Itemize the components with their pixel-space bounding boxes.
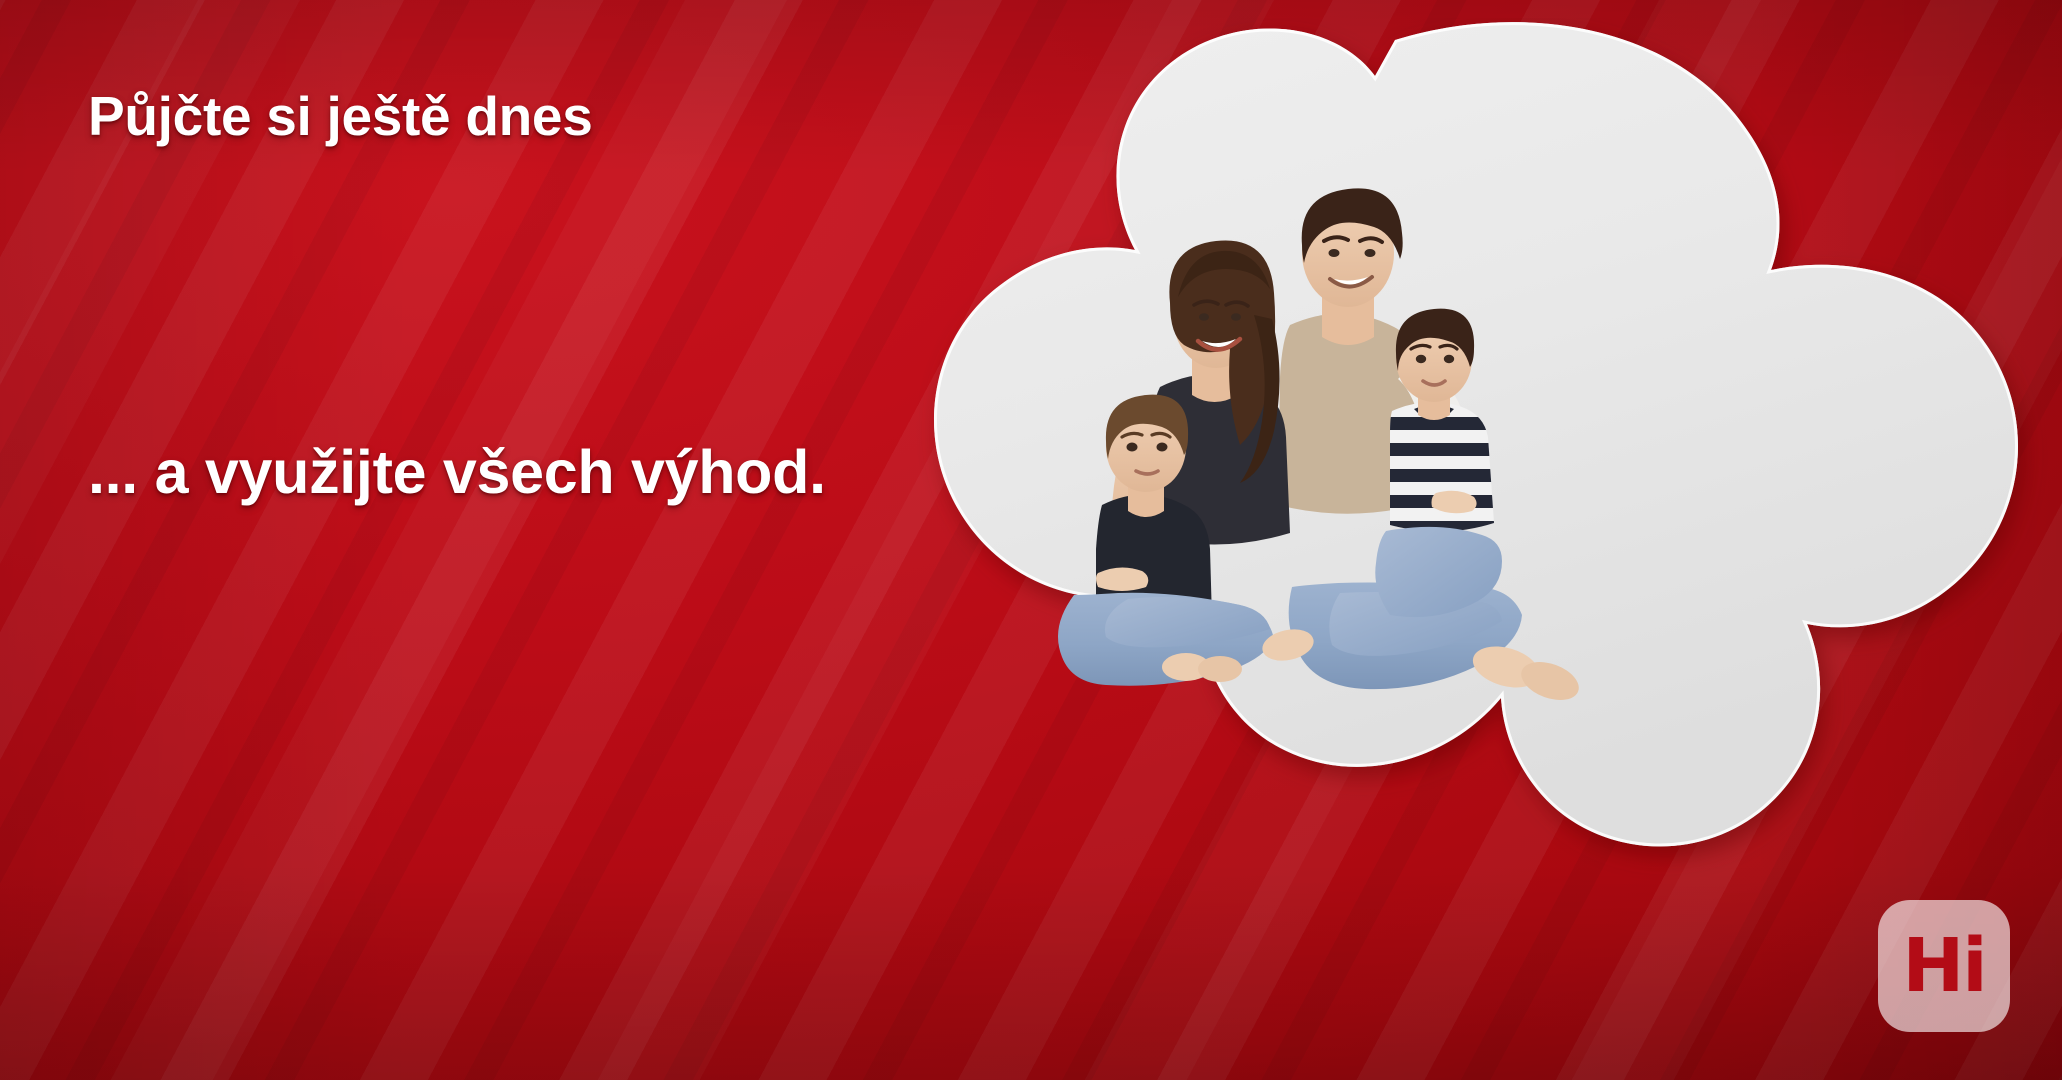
hi-logo[interactable]: Hi [1878,900,2010,1032]
headline-secondary: ... a využijte všech výhod. [88,440,826,504]
hi-logo-text: Hi [1902,929,1985,1003]
banner-canvas: Půjčte si ještě dnes ... a využijte všec… [0,0,2062,1080]
family-photo [1040,175,1680,705]
headline-primary: Půjčte si ještě dnes [88,88,593,146]
